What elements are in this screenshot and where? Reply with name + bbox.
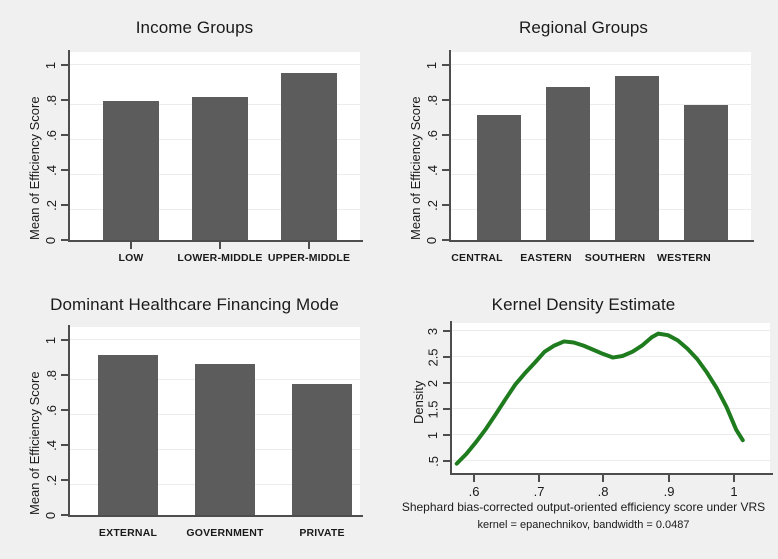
gridline <box>451 64 751 65</box>
category-label-lower-middle: LOWER-MIDDLE <box>170 252 270 264</box>
y-tick <box>61 169 68 171</box>
x-tick-label: 1 <box>714 484 754 499</box>
y-tick <box>442 169 449 171</box>
y-tick <box>61 339 68 341</box>
financing-y-axis-label: Mean of Efficiency Score <box>27 371 42 515</box>
regional-plot-area <box>451 52 751 240</box>
bar-government <box>195 364 255 515</box>
bar-western <box>684 105 728 240</box>
bar-lower-middle <box>192 97 248 240</box>
regional-y-axis-label: Mean of Efficiency Score <box>408 96 423 240</box>
y-tick <box>443 408 450 410</box>
x-tick <box>668 475 670 482</box>
y-tick <box>61 64 68 66</box>
y-tick-label: .4 <box>44 163 58 178</box>
kernel-y-axis <box>450 321 452 475</box>
y-tick <box>61 134 68 136</box>
kernel-plot-area <box>452 323 770 473</box>
y-tick-label: 1 <box>44 333 58 348</box>
y-tick <box>61 239 68 241</box>
y-tick <box>442 99 449 101</box>
x-tick-label: .7 <box>519 484 559 499</box>
panel-income-title: Income Groups <box>0 18 389 38</box>
x-tick <box>130 242 132 249</box>
density-curve-line <box>457 334 743 464</box>
kernel-y-axis-label: Density <box>411 381 426 424</box>
y-tick <box>443 460 450 462</box>
x-tick <box>538 475 540 482</box>
y-tick <box>61 374 68 376</box>
y-tick <box>443 356 450 358</box>
y-tick-label: 0 <box>44 233 58 248</box>
y-tick-label: 2 <box>424 376 442 391</box>
bar-external <box>98 355 158 515</box>
y-tick-label: 1.5 <box>424 402 442 417</box>
category-label-upper-middle: UPPER-MIDDLE <box>259 252 359 264</box>
y-tick <box>61 99 68 101</box>
y-tick-label: .6 <box>44 128 58 143</box>
kernel-x-axis <box>450 473 773 475</box>
y-tick-label: 3 <box>424 324 442 339</box>
bar-private <box>292 384 352 515</box>
category-label-western: WESTERN <box>634 252 734 264</box>
y-tick-label: .8 <box>44 93 58 108</box>
x-tick <box>308 242 310 249</box>
x-tick <box>473 475 475 482</box>
y-tick <box>442 239 449 241</box>
x-tick-label: .9 <box>649 484 689 499</box>
x-tick <box>219 242 221 249</box>
category-label-government: GOVERNMENT <box>175 527 275 539</box>
kernel-x-axis-label: Shephard bias-corrected output-oriented … <box>389 500 778 514</box>
density-curve-svg <box>452 323 770 473</box>
y-tick-label: 1 <box>424 428 442 443</box>
y-tick <box>442 64 449 66</box>
bar-central <box>477 115 521 240</box>
y-tick-label: 1 <box>425 58 439 73</box>
y-tick <box>61 479 68 481</box>
y-tick-label: .2 <box>425 198 439 213</box>
category-label-private: PRIVATE <box>272 527 372 539</box>
y-tick <box>61 444 68 446</box>
income-y-axis-label: Mean of Efficiency Score <box>27 96 42 240</box>
x-tick <box>602 475 604 482</box>
income-x-axis <box>68 240 363 242</box>
panel-kernel-title: Kernel Density Estimate <box>389 295 778 315</box>
y-tick-label: 0 <box>425 233 439 248</box>
financing-x-axis <box>68 515 363 517</box>
y-tick-label: .5 <box>424 454 442 469</box>
y-tick <box>443 434 450 436</box>
panel-regional-title: Regional Groups <box>389 18 778 38</box>
panel-regional-groups: Regional Groups 0 .2 .4 .6 .8 1 Mean of … <box>389 12 778 280</box>
panel-financing-title: Dominant Healthcare Financing Mode <box>0 295 389 315</box>
y-tick <box>61 204 68 206</box>
panel-income-groups: Income Groups 0 .2 .4 .6 .8 1 Mean of Ef… <box>0 12 389 280</box>
income-plot-area <box>70 52 360 240</box>
kernel-bandwidth-note: kernel = epanechnikov, bandwidth = 0.048… <box>389 519 778 531</box>
gridline <box>70 339 360 340</box>
y-tick-label: .6 <box>44 403 58 418</box>
x-tick-label: .6 <box>454 484 494 499</box>
y-tick-label: .6 <box>425 128 439 143</box>
regional-x-axis <box>449 240 754 242</box>
figure-canvas: Income Groups 0 .2 .4 .6 .8 1 Mean of Ef… <box>0 0 778 559</box>
y-tick <box>443 330 450 332</box>
y-tick-label: 1 <box>44 58 58 73</box>
gridline <box>70 64 360 65</box>
category-label-external: EXTERNAL <box>78 527 178 539</box>
bar-low <box>103 101 159 240</box>
bar-southern <box>615 76 659 240</box>
y-tick <box>443 382 450 384</box>
financing-plot-area <box>70 327 360 515</box>
panel-kernel-density: Kernel Density Estimate .5 1 1.5 2 2.5 3… <box>389 291 778 559</box>
y-tick <box>442 134 449 136</box>
y-tick-label: .8 <box>425 93 439 108</box>
y-tick-label: .4 <box>425 163 439 178</box>
y-tick-label: .4 <box>44 438 58 453</box>
regional-y-axis <box>449 50 451 242</box>
income-y-axis <box>68 50 70 242</box>
x-tick-label: .8 <box>583 484 623 499</box>
y-tick-label: 0 <box>44 508 58 523</box>
y-tick <box>61 409 68 411</box>
y-tick-label: .2 <box>44 198 58 213</box>
bar-eastern <box>546 87 590 240</box>
panel-financing-mode: Dominant Healthcare Financing Mode 0 .2 … <box>0 291 389 559</box>
y-tick <box>61 514 68 516</box>
bar-upper-middle <box>281 73 337 240</box>
y-tick-label: 2.5 <box>424 350 442 365</box>
y-tick-label: .2 <box>44 473 58 488</box>
y-tick-label: .8 <box>44 368 58 383</box>
category-label-low: LOW <box>81 252 181 264</box>
x-tick <box>733 475 735 482</box>
financing-y-axis <box>68 325 70 517</box>
y-tick <box>442 204 449 206</box>
